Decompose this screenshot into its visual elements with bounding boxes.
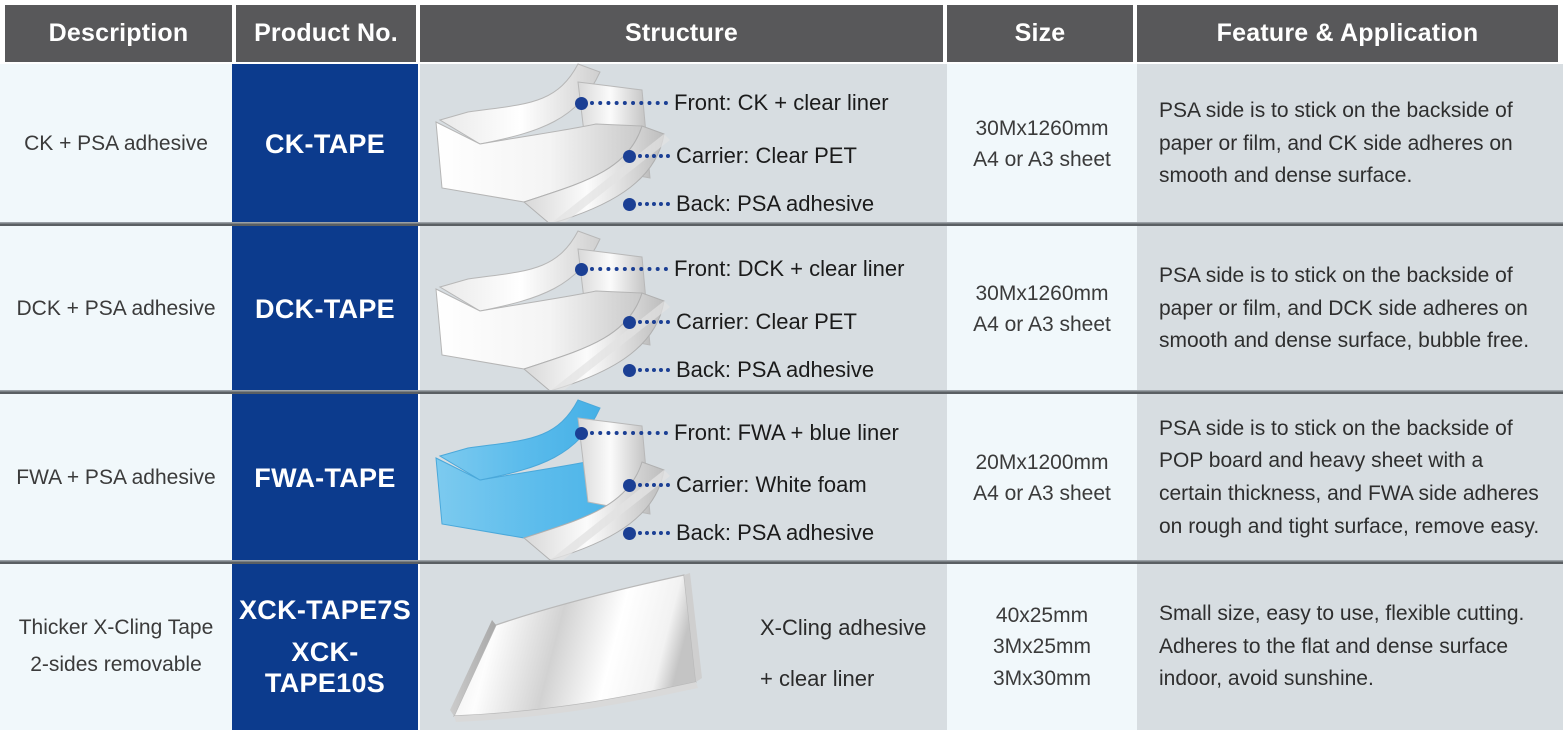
table-row-1-callout-carrier: Carrier: Clear PET — [623, 143, 857, 169]
size-line: 20Mx1200mm — [975, 447, 1108, 479]
table-row-2-product-no: DCK-TAPE — [232, 226, 418, 392]
callout-leader-line — [638, 154, 670, 158]
table-row-4-feature: Small size, easy to use, flexible cuttin… — [1137, 564, 1563, 730]
table-row-1-size: 30Mx1260mm A4 or A3 sheet — [947, 64, 1137, 224]
callout-leader-line — [638, 202, 670, 206]
table-row-2-callout-front: Front: DCK + clear liner — [575, 256, 904, 282]
table-row-2-callout-back: Back: PSA adhesive — [623, 357, 874, 383]
size-line: A4 or A3 sheet — [973, 478, 1111, 510]
table-row-2-feature: PSA side is to stick on the backside of … — [1137, 226, 1563, 392]
table-row-2-size: 30Mx1260mm A4 or A3 sheet — [947, 226, 1137, 392]
table-row-2-structure: Front: DCK + clear liner Carrier: Clear … — [420, 226, 947, 392]
callout-dot-icon — [623, 527, 636, 540]
table-row-1-feature: PSA side is to stick on the backside of … — [1137, 64, 1563, 224]
table-row-3-feature: PSA side is to stick on the backside of … — [1137, 394, 1563, 562]
size-line: 30Mx1260mm — [975, 278, 1108, 310]
callout-dot-icon — [575, 427, 588, 440]
callout-dot-icon — [623, 364, 636, 377]
table-row-1-structure: Front: CK + clear liner Carrier: Clear P… — [420, 64, 947, 224]
callout-dot-icon — [623, 316, 636, 329]
size-line: 3Mx25mm — [993, 631, 1091, 663]
callout-leader-line — [638, 531, 670, 535]
table-row-4-structure-label: X-Cling adhesive + clear liner — [760, 610, 926, 696]
table-row-2-callout-carrier: Carrier: Clear PET — [623, 309, 857, 335]
description-line: Thicker X-Cling Tape — [19, 610, 214, 647]
column-header-size: Size — [947, 5, 1133, 62]
structure-label-line: + clear liner — [760, 661, 926, 696]
callout-dot-icon — [623, 150, 636, 163]
size-line: 30Mx1260mm — [975, 113, 1108, 145]
table-row-4-structure: X-Cling adhesive + clear liner — [420, 564, 947, 730]
table-row-4-description: Thicker X-Cling Tape 2-sides removable — [0, 564, 232, 730]
table-row-3-description: FWA + PSA adhesive — [0, 394, 232, 562]
callout-leader-line — [590, 267, 668, 271]
column-header-product-no: Product No. — [236, 5, 416, 62]
size-line: 3Mx30mm — [993, 663, 1091, 695]
callout-leader-line — [638, 368, 670, 372]
table-row-1-description: CK + PSA adhesive — [0, 64, 232, 224]
table-row-3-product-no: FWA-TAPE — [232, 394, 418, 562]
product-no-line: XCK-TAPE10S — [232, 637, 418, 699]
structure-label-line: X-Cling adhesive — [760, 610, 926, 645]
column-header-structure: Structure — [420, 5, 943, 62]
description-line: 2-sides removable — [30, 647, 202, 684]
size-line: A4 or A3 sheet — [973, 309, 1111, 341]
callout-leader-line — [638, 320, 670, 324]
table-row-3-callout-carrier: Carrier: White foam — [623, 472, 867, 498]
single-curved-sheet-illustration — [438, 570, 728, 728]
table-row-1-product-no: CK-TAPE — [232, 64, 418, 224]
product-no-line: XCK-TAPE7S — [239, 595, 411, 626]
callout-leader-line — [638, 483, 670, 487]
table-row-4-product-no: XCK-TAPE7S XCK-TAPE10S — [232, 564, 418, 730]
table-row-1-callout-back: Back: PSA adhesive — [623, 191, 874, 217]
table-row-1-callout-front: Front: CK + clear liner — [575, 90, 889, 116]
size-line: 40x25mm — [996, 600, 1088, 632]
product-comparison-table: Description Product No. Structure Size F… — [0, 0, 1563, 730]
table-row-2-description: DCK + PSA adhesive — [0, 226, 232, 392]
table: Description Product No. Structure Size F… — [0, 0, 1563, 730]
callout-dot-icon — [623, 479, 636, 492]
table-row-4-size: 40x25mm 3Mx25mm 3Mx30mm — [947, 564, 1137, 730]
table-row-3-structure: Front: FWA + blue liner Carrier: White f… — [420, 394, 947, 562]
table-row-3-callout-front: Front: FWA + blue liner — [575, 420, 899, 446]
column-header-description: Description — [5, 5, 232, 62]
callout-dot-icon — [623, 198, 636, 211]
table-row-3-callout-back: Back: PSA adhesive — [623, 520, 874, 546]
callout-leader-line — [590, 431, 668, 435]
callout-dot-icon — [575, 263, 588, 276]
column-header-feature-application: Feature & Application — [1137, 5, 1558, 62]
table-row-3-size: 20Mx1200mm A4 or A3 sheet — [947, 394, 1137, 562]
callout-leader-line — [590, 101, 668, 105]
callout-dot-icon — [575, 97, 588, 110]
size-line: A4 or A3 sheet — [973, 144, 1111, 176]
